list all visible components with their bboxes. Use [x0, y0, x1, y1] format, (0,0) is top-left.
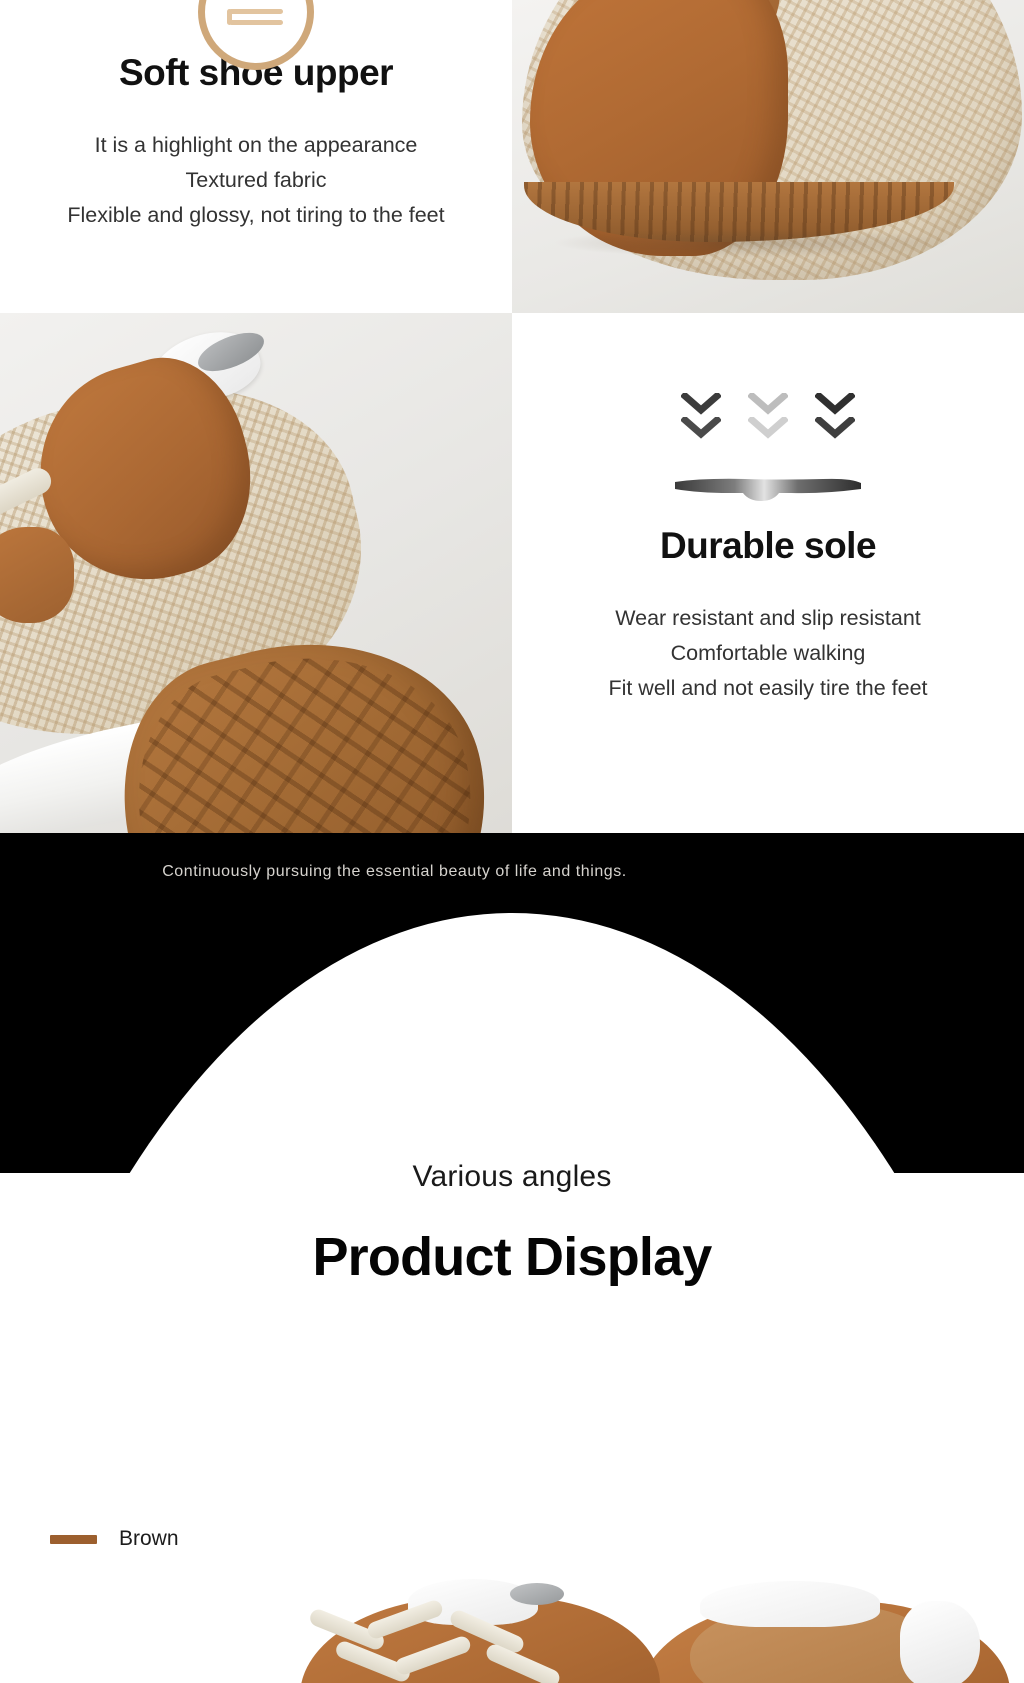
brand-tagline-banner: Continuously pursuing the essential beau…	[0, 833, 1024, 1173]
color-swatch-brown[interactable]: Brown	[50, 1527, 179, 1551]
product-photo-toe-closeup	[512, 0, 1024, 313]
brand-tagline-text: Continuously pursuing the essential beau…	[0, 863, 1024, 881]
product-photo-pair-front	[0, 1575, 1024, 1683]
product-display-subtitle: Various angles	[0, 1160, 1024, 1194]
color-swatch-bar-icon	[50, 1535, 97, 1544]
color-swatch-label: Brown	[119, 1527, 179, 1551]
product-photo-heel-outsole-closeup	[0, 313, 512, 833]
product-display-title: Product Display	[0, 1226, 1024, 1288]
feature-title-durable-sole: Durable sole	[660, 525, 876, 567]
feature-desc-line: Textured fabric	[67, 163, 444, 198]
feature-desc-line: Comfortable walking	[608, 636, 927, 671]
feature-panel-durable-sole: Durable sole Wear resistant and slip res…	[512, 313, 1024, 833]
feature-description-soft-shoe-upper: It is a highlight on the appearance Text…	[67, 128, 444, 233]
sole-cushion-chevrons-icon	[673, 393, 863, 508]
feature-desc-line: Wear resistant and slip resistant	[608, 601, 927, 636]
product-detail-page: Soft shoe upper It is a highlight on the…	[0, 0, 1024, 1683]
feature-grid: Soft shoe upper It is a highlight on the…	[0, 0, 1024, 833]
feature-desc-line: It is a highlight on the appearance	[67, 128, 444, 163]
feature-desc-line: Fit well and not easily tire the feet	[608, 671, 927, 706]
feature-description-durable-sole: Wear resistant and slip resistant Comfor…	[608, 601, 927, 706]
feature-desc-line: Flexible and glossy, not tiring to the f…	[67, 198, 444, 233]
product-display-heading: Various angles Product Display	[0, 1160, 1024, 1288]
banner-arch-divider	[0, 913, 1024, 1173]
feature-panel-soft-shoe-upper: Soft shoe upper It is a highlight on the…	[0, 0, 512, 313]
